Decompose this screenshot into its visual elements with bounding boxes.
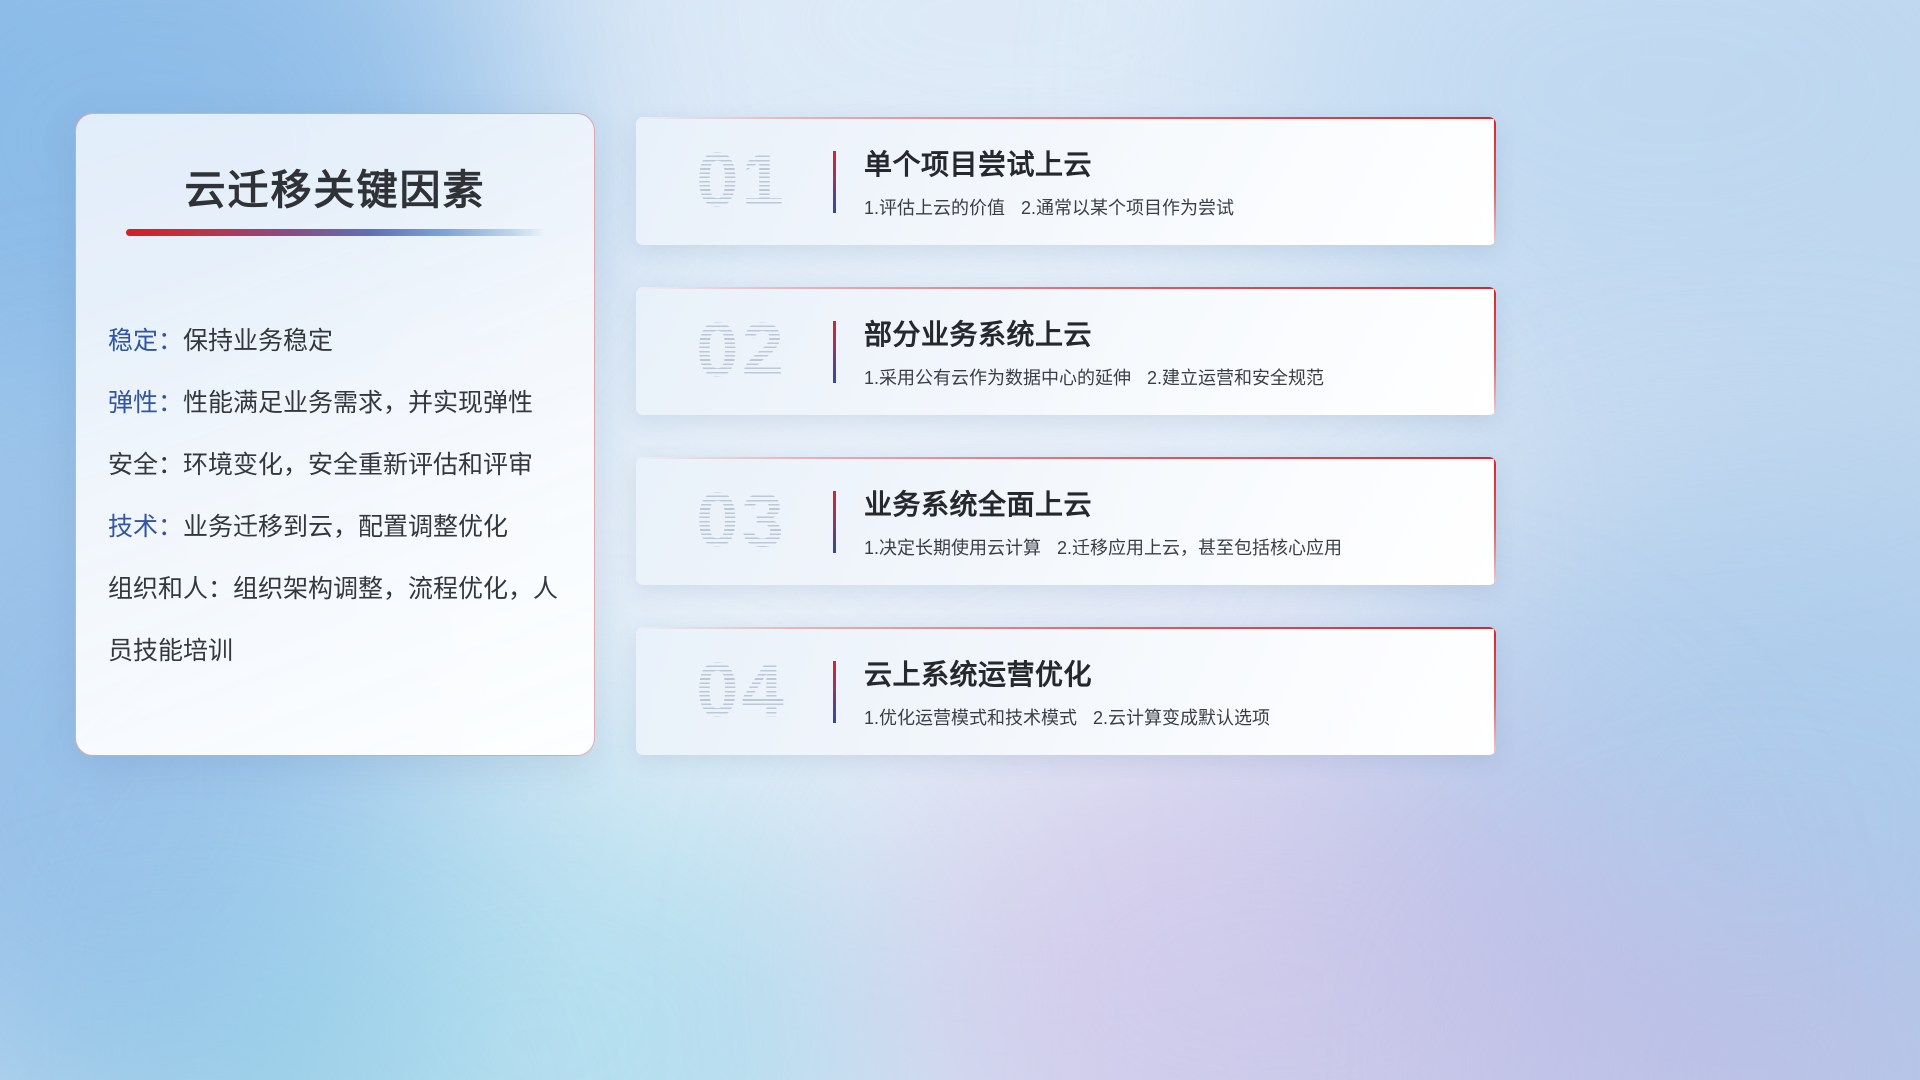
card-number-02: 02	[664, 313, 819, 389]
card-point-1: 1.评估上云的价值	[864, 198, 1005, 218]
card-divider-accent	[833, 661, 836, 723]
factor-text-stability: 保持业务稳定	[183, 327, 333, 355]
card-body: 云上系统运营优化 1.优化运营模式和技术模式2.云计算变成默认选项	[864, 655, 1478, 731]
card-number-03: 03	[664, 483, 819, 559]
card-number-01: 01	[664, 143, 819, 219]
stage-card-04[interactable]: 04 云上系统运营优化 1.优化运营模式和技术模式2.云计算变成默认选项	[636, 627, 1496, 755]
factor-row-stability: 稳定：保持业务稳定	[108, 310, 574, 372]
factor-label-security: 安全：	[108, 451, 183, 479]
card-point-2: 2.云计算变成默认选项	[1093, 708, 1270, 728]
card-description-04: 1.优化运营模式和技术模式2.云计算变成默认选项	[864, 705, 1478, 731]
card-title-01: 单个项目尝试上云	[864, 145, 1478, 185]
card-body: 业务系统全面上云 1.决定长期使用云计算2.迁移应用上云，甚至包括核心应用	[864, 485, 1478, 561]
factor-text-technology: 业务迁移到云，配置调整优化	[183, 513, 508, 541]
card-top-accent-line	[636, 287, 1496, 289]
card-title-04: 云上系统运营优化	[864, 655, 1478, 695]
card-point-2: 2.建立运营和安全规范	[1147, 368, 1324, 388]
factor-label-stability: 稳定：	[108, 327, 183, 355]
factor-row-security: 安全：环境变化，安全重新评估和评审	[108, 434, 574, 496]
factor-text-security: 环境变化，安全重新评估和评审	[183, 451, 533, 479]
card-body: 单个项目尝试上云 1.评估上云的价值2.通常以某个项目作为尝试	[864, 145, 1478, 221]
factor-row-elasticity: 弹性：性能满足业务需求，并实现弹性	[108, 372, 574, 434]
factor-list: 稳定：保持业务稳定 弹性：性能满足业务需求，并实现弹性 安全：环境变化，安全重新…	[108, 310, 574, 682]
card-right-accent-line	[1494, 287, 1496, 415]
card-description-02: 1.采用公有云作为数据中心的延伸2.建立运营和安全规范	[864, 365, 1478, 391]
card-description-01: 1.评估上云的价值2.通常以某个项目作为尝试	[864, 195, 1478, 221]
card-title-03: 业务系统全面上云	[864, 485, 1478, 525]
card-divider-accent	[833, 321, 836, 383]
card-description-03: 1.决定长期使用云计算2.迁移应用上云，甚至包括核心应用	[864, 535, 1478, 561]
factor-label-organization: 组织和人：	[108, 575, 233, 603]
stage-card-03[interactable]: 03 业务系统全面上云 1.决定长期使用云计算2.迁移应用上云，甚至包括核心应用	[636, 457, 1496, 585]
card-point-2: 2.通常以某个项目作为尝试	[1021, 198, 1234, 218]
card-number-04: 04	[664, 653, 819, 729]
card-top-accent-line	[636, 627, 1496, 629]
card-divider-accent	[833, 151, 836, 213]
card-point-1: 1.优化运营模式和技术模式	[864, 708, 1077, 728]
page-title: 云迁移关键因素	[76, 156, 594, 216]
stage-card-01[interactable]: 01 单个项目尝试上云 1.评估上云的价值2.通常以某个项目作为尝试	[636, 117, 1496, 245]
card-right-accent-line	[1494, 457, 1496, 585]
factor-row-organization: 组织和人：组织架构调整，流程优化，人员技能培训	[108, 558, 574, 682]
card-point-1: 1.决定长期使用云计算	[864, 538, 1041, 558]
card-divider-accent	[833, 491, 836, 553]
factor-label-elasticity: 弹性：	[108, 389, 183, 417]
title-underline-accent	[126, 229, 546, 236]
key-factors-panel: 云迁移关键因素 稳定：保持业务稳定 弹性：性能满足业务需求，并实现弹性 安全：环…	[75, 113, 595, 756]
card-right-accent-line	[1494, 117, 1496, 245]
stage-card-02[interactable]: 02 部分业务系统上云 1.采用公有云作为数据中心的延伸2.建立运营和安全规范	[636, 287, 1496, 415]
card-top-accent-line	[636, 457, 1496, 459]
factor-text-elasticity: 性能满足业务需求，并实现弹性	[183, 389, 533, 417]
card-point-2: 2.迁移应用上云，甚至包括核心应用	[1057, 538, 1342, 558]
card-point-1: 1.采用公有云作为数据中心的延伸	[864, 368, 1131, 388]
card-right-accent-line	[1494, 627, 1496, 755]
card-title-02: 部分业务系统上云	[864, 315, 1478, 355]
factor-label-technology: 技术：	[108, 513, 183, 541]
factor-row-technology: 技术：业务迁移到云，配置调整优化	[108, 496, 574, 558]
card-body: 部分业务系统上云 1.采用公有云作为数据中心的延伸2.建立运营和安全规范	[864, 315, 1478, 391]
slide-canvas: 云迁移关键因素 稳定：保持业务稳定 弹性：性能满足业务需求，并实现弹性 安全：环…	[0, 0, 1920, 1080]
card-top-accent-line	[636, 117, 1496, 119]
